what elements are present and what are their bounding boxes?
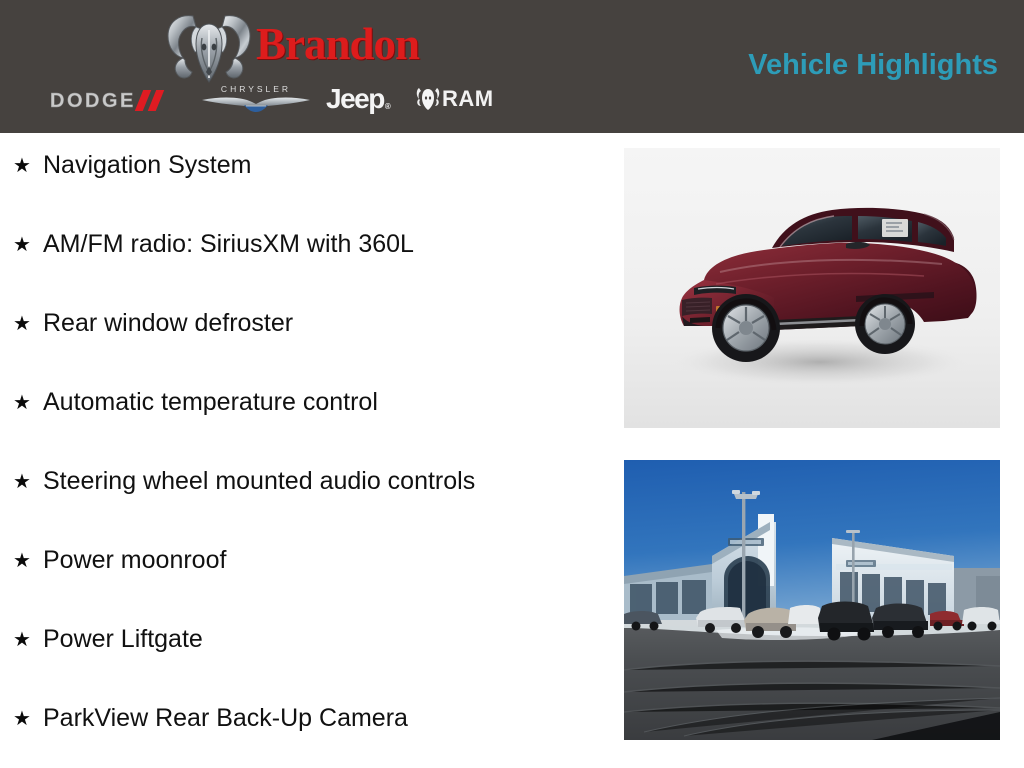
jeep-logo[interactable]: Jeep® [326, 85, 388, 120]
ram-head-icon [163, 10, 255, 86]
star-icon: ★ [13, 228, 43, 260]
list-item[interactable]: ★ ParkView Rear Back-Up Camera [0, 702, 620, 768]
vehicle-highlights-slide: Brandon DODGE CHRYSLER [0, 0, 1024, 768]
ram-small-head-icon [415, 86, 441, 111]
list-item[interactable]: ★ Automatic temperature control [0, 386, 620, 465]
star-icon: ★ [13, 702, 43, 734]
list-item-label: ParkView Rear Back-Up Camera [43, 702, 408, 734]
star-icon: ★ [13, 386, 43, 418]
dealer-header-bar: Brandon DODGE CHRYSLER [0, 0, 1024, 133]
list-item[interactable]: ★ Power moonroof [0, 544, 620, 623]
brand-logos-row: DODGE CHRYSLER [48, 82, 538, 118]
vehicle-photo[interactable] [624, 148, 1000, 428]
dodge-stripes-icon [137, 90, 169, 111]
chrysler-wings-logo[interactable]: CHRYSLER [200, 85, 312, 117]
star-icon: ★ [13, 307, 43, 339]
vehicle-features-list: ★ Navigation System ★ AM/FM radio: Siriu… [0, 149, 620, 749]
list-item-label: AM/FM radio: SiriusXM with 360L [43, 228, 414, 260]
jeep-trademark: ® [385, 102, 389, 111]
list-item-label: Power moonroof [43, 544, 226, 576]
dodge-logo[interactable]: DODGE [50, 90, 169, 111]
ram-logo[interactable]: RAM [415, 86, 494, 111]
list-item[interactable]: ★ Power Liftgate [0, 623, 620, 702]
dealer-branding[interactable]: Brandon DODGE CHRYSLER [48, 8, 538, 126]
list-item-label: Steering wheel mounted audio controls [43, 465, 475, 497]
list-item-label: Rear window defroster [43, 307, 293, 339]
chrysler-wings-icon [200, 95, 312, 114]
star-icon: ★ [13, 544, 43, 576]
list-item[interactable]: ★ Steering wheel mounted audio controls [0, 465, 620, 544]
list-item-label: Navigation System [43, 149, 251, 181]
star-icon: ★ [13, 465, 43, 497]
page-title: Vehicle Highlights [748, 48, 998, 82]
dealer-name: Brandon [256, 22, 419, 67]
dealership-photo[interactable] [624, 460, 1000, 740]
list-item-label: Power Liftgate [43, 623, 203, 655]
list-item[interactable]: ★ AM/FM radio: SiriusXM with 360L [0, 228, 620, 307]
dealer-primary-logo: Brandon [48, 8, 538, 84]
list-item-label: Automatic temperature control [43, 386, 378, 418]
list-item[interactable]: ★ Navigation System [0, 149, 620, 228]
star-icon: ★ [13, 149, 43, 181]
list-item[interactable]: ★ Rear window defroster [0, 307, 620, 386]
star-icon: ★ [13, 623, 43, 655]
